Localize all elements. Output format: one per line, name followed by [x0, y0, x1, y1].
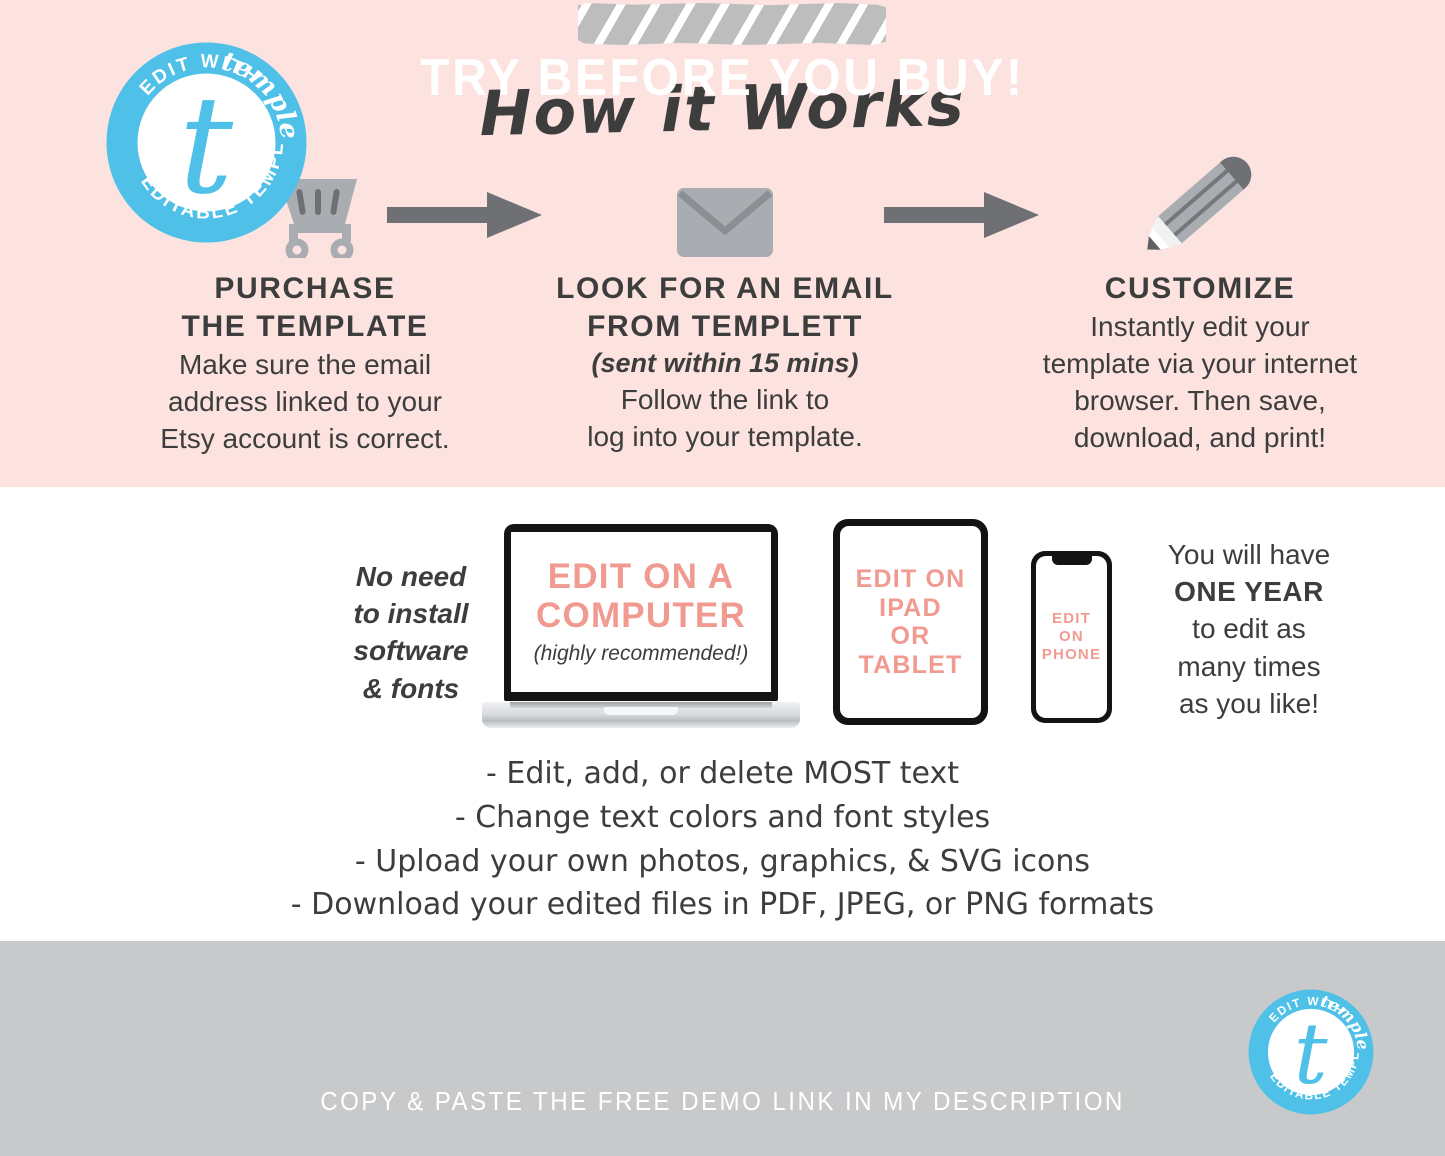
phone-mockup: EDIT ON PHONE — [1031, 551, 1112, 723]
step-customize: CUSTOMIZE Instantly edit your template v… — [970, 148, 1430, 457]
step-look-for-email: LOOK FOR AN EMAIL FROM TEMPLETT (sent wi… — [505, 148, 945, 456]
tablet-screen: EDIT ON IPAD OR TABLET — [840, 526, 981, 718]
step-body-line2: log into your template. — [505, 419, 945, 456]
laptop-line2: COMPUTER — [536, 597, 746, 636]
step-body-line3: Etsy account is correct. — [85, 421, 525, 458]
tablet-line3: OR — [856, 622, 966, 651]
washi-tape-icon — [578, 3, 886, 45]
list-item: - Edit, add, or delete MOST text — [0, 752, 1445, 796]
laptop-mockup: EDIT ON A COMPUTER (highly recommended!) — [482, 524, 800, 728]
feature-bullet-list: - Edit, add, or delete MOST text - Chang… — [0, 752, 1445, 927]
phone-screen: EDIT ON PHONE — [1036, 556, 1107, 718]
list-item: - Upload your own photos, graphics, & SV… — [0, 840, 1445, 884]
step-body-line1: Make sure the email — [85, 347, 525, 384]
envelope-icon — [505, 148, 945, 258]
step-heading-line2: THE TEMPLATE — [85, 308, 525, 346]
step-heading-line2: FROM TEMPLETT — [505, 308, 945, 346]
washi-tape-stripes — [578, 3, 886, 45]
no-need-line4: & fonts — [331, 670, 491, 707]
tablet-mockup: EDIT ON IPAD OR TABLET — [833, 519, 988, 725]
step-body-line2: template via your internet — [970, 346, 1430, 383]
list-item: - Download your edited files in PDF, JPE… — [0, 883, 1445, 927]
step-body-line3: browser. Then save, — [970, 383, 1430, 420]
templett-badge-footer: EDIT WITH templett EDITABLE TEMPLATE t — [1247, 988, 1375, 1121]
step-heading-line1: CUSTOMIZE — [970, 270, 1430, 308]
phone-notch — [1052, 556, 1092, 565]
laptop-lid: EDIT ON A COMPUTER (highly recommended!) — [504, 524, 778, 701]
tablet-line1: EDIT ON — [856, 565, 966, 594]
tablet-line2: IPAD — [856, 594, 966, 623]
no-need-text: No need to install software & fonts — [331, 558, 491, 707]
no-need-line1: No need — [331, 558, 491, 595]
tablet-line4: TABLET — [856, 651, 966, 680]
one-year-line1: You will have — [1124, 536, 1374, 573]
one-year-text: You will have ONE YEAR to edit as many t… — [1124, 536, 1374, 722]
phone-line3: PHONE — [1042, 646, 1101, 664]
footer-subline: COPY & PASTE THE FREE DEMO LINK IN MY DE… — [51, 1086, 1395, 1117]
footer-headline: TRY BEFORE YOU BUY! — [58, 48, 1387, 108]
badge-center-letter: t — [1294, 1005, 1328, 1103]
step-body-line1: Follow the link to — [505, 382, 945, 419]
step-body-line4: download, and print! — [970, 420, 1430, 457]
no-need-line3: software — [331, 632, 491, 669]
step-body-line1: Instantly edit your — [970, 309, 1430, 346]
laptop-line1: EDIT ON A — [536, 558, 746, 597]
list-item: - Change text colors and font styles — [0, 796, 1445, 840]
phone-line1: EDIT — [1042, 610, 1101, 628]
phone-line2: ON — [1042, 628, 1101, 646]
one-year-line3: to edit as — [1124, 610, 1374, 647]
step-body-line2: address linked to your — [85, 384, 525, 421]
no-need-line2: to install — [331, 595, 491, 632]
step-note: (sent within 15 mins) — [505, 346, 945, 382]
one-year-emphasis: ONE YEAR — [1174, 576, 1324, 607]
laptop-base — [482, 702, 800, 728]
laptop-trackpad-notch — [604, 707, 678, 715]
step-heading-line1: LOOK FOR AN EMAIL — [505, 270, 945, 308]
laptop-screen: EDIT ON A COMPUTER (highly recommended!) — [511, 532, 771, 692]
pencil-icon — [970, 148, 1430, 258]
one-year-line5: as you like! — [1124, 685, 1374, 722]
step-heading-line1: PURCHASE — [85, 270, 525, 308]
footer-section — [0, 941, 1445, 1156]
one-year-line4: many times — [1124, 648, 1374, 685]
laptop-subtitle: (highly recommended!) — [534, 642, 749, 666]
